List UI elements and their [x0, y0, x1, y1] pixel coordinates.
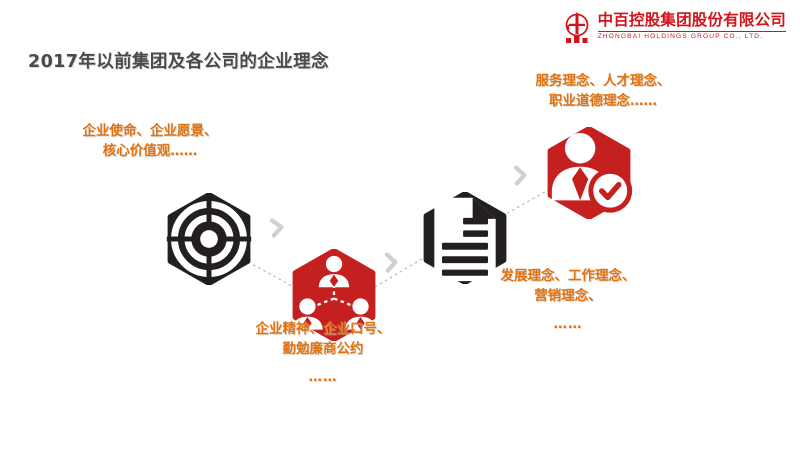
arrow-2-chevron-icon [382, 252, 402, 274]
node-2-caption-line-2: 勤勉廉商公约 [283, 341, 364, 357]
node-3-caption-ellipsis: …… [473, 315, 663, 335]
arrow-1-chevron-icon [268, 217, 288, 239]
node-1-caption-line-1: 企业使命、企业愿景、 [83, 123, 218, 139]
node-4-hexagon[interactable] [543, 127, 635, 219]
node-2-caption-ellipsis: …… [228, 368, 418, 388]
node-1-hexagon[interactable] [163, 193, 255, 285]
arrow-3-chevron-icon [511, 165, 531, 187]
slide-canvas: 中百控股集团股份有限公司 ZHONGBAI HOLDINGS GROUP CO.… [0, 0, 800, 450]
node-4-caption-line-1: 服务理念、人才理念、 [536, 73, 671, 89]
process-flow-diagram: 企业使命、企业愿景、 核心价值观…… 企业精神、企业口号、 勤勉廉商公约 …… … [0, 0, 800, 450]
node-2-caption-line-1: 企业精神、企业口号、 [256, 321, 391, 337]
node-3-caption: 发展理念、工作理念、 营销理念、 …… [473, 267, 663, 335]
node-4-caption: 服务理念、人才理念、 职业道德理念…… [508, 72, 698, 111]
node-1-caption-line-2: 核心价值观…… [103, 143, 198, 159]
node-1-caption: 企业使命、企业愿景、 核心价值观…… [55, 122, 245, 161]
node-3-caption-line-2: 营销理念、 [534, 288, 602, 304]
target-bullseye-icon [163, 193, 255, 285]
person-check-icon [543, 127, 635, 219]
node-4-caption-line-2: 职业道德理念…… [549, 93, 657, 109]
node-3-caption-line-1: 发展理念、工作理念、 [501, 268, 636, 284]
node-2-caption: 企业精神、企业口号、 勤勉廉商公约 …… [228, 320, 418, 388]
